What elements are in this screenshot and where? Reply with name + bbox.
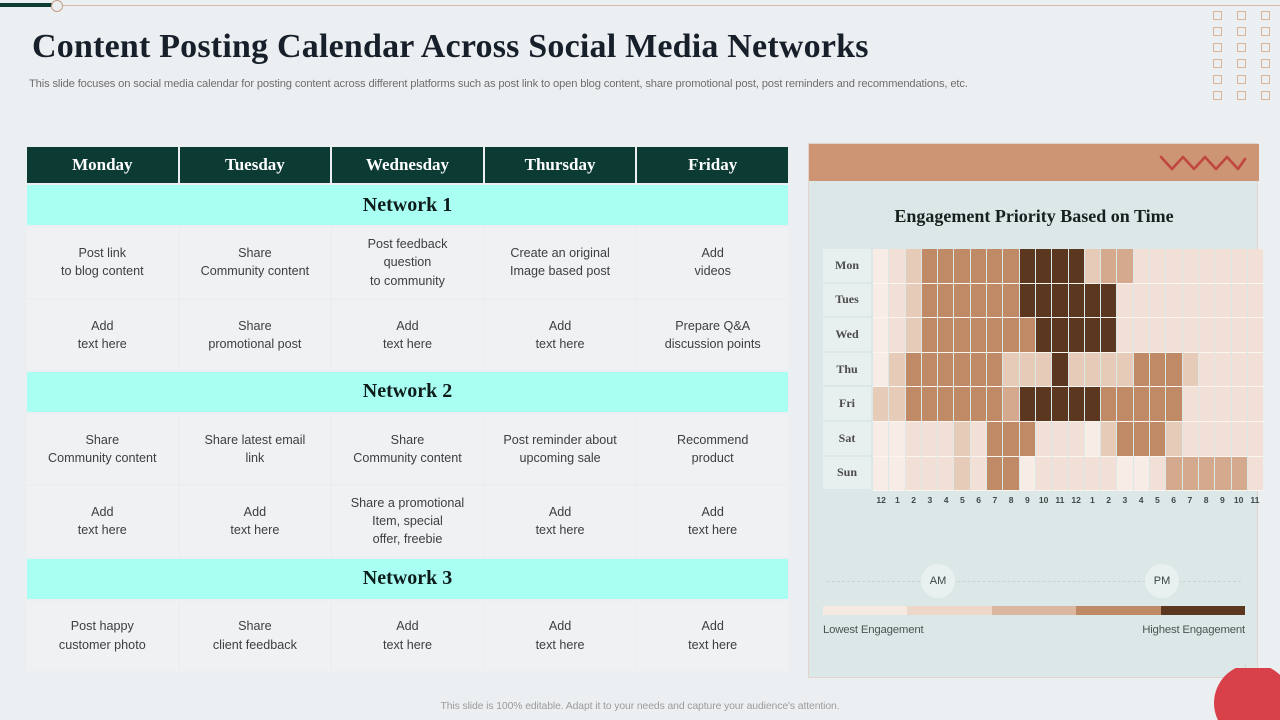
heatmap-cell[interactable] xyxy=(1215,387,1230,422)
heatmap-cell[interactable] xyxy=(1003,353,1018,388)
calendar-cell[interactable]: Sharepromotional post xyxy=(180,300,331,370)
heatmap-cell[interactable] xyxy=(1117,284,1132,319)
heatmap-cell[interactable] xyxy=(1052,249,1067,284)
heatmap-row-label: Tues xyxy=(823,284,871,319)
heatmap-cell[interactable] xyxy=(1199,249,1214,284)
heatmap-cell[interactable] xyxy=(1101,387,1116,422)
heatmap-cell[interactable] xyxy=(1150,457,1165,492)
heatmap-hour-label: 8 xyxy=(1198,495,1214,505)
heatmap-row-label: Thu xyxy=(823,353,871,388)
legend-swatch xyxy=(992,606,1076,615)
calendar-cell[interactable]: Addtext here xyxy=(485,300,636,370)
calendar-cell[interactable]: Recommendproduct xyxy=(637,414,788,484)
heatmap-cell[interactable] xyxy=(1036,387,1051,422)
calendar-cell[interactable]: Create an originalImage based post xyxy=(485,227,636,298)
panel-header-band xyxy=(809,144,1259,181)
heatmap-cell[interactable] xyxy=(1232,318,1247,353)
heatmap-cell[interactable] xyxy=(873,457,888,492)
calendar-cell[interactable]: Post feedbackquestionto community xyxy=(332,227,483,298)
heatmap-cell[interactable] xyxy=(971,353,986,388)
decorative-square-icon xyxy=(1261,11,1270,20)
calendar-cell[interactable]: Addtext here xyxy=(27,300,178,370)
heatmap-cell[interactable] xyxy=(1215,457,1230,492)
decorative-square-icon xyxy=(1213,91,1222,100)
pm-marker: PM xyxy=(1145,564,1179,598)
heatmap-hour-label: 9 xyxy=(1214,495,1230,505)
heatmap-cell[interactable] xyxy=(889,249,904,284)
heatmap-cell[interactable] xyxy=(1052,318,1067,353)
calendar-header-row: MondayTuesdayWednesdayThursdayFriday xyxy=(27,147,788,183)
calendar-row: Post happycustomer photoShareclient feed… xyxy=(27,601,788,671)
heatmap-hour-label: 9 xyxy=(1019,495,1035,505)
heatmap-hour-label: 10 xyxy=(1231,495,1247,505)
heatmap-cell[interactable] xyxy=(889,284,904,319)
heatmap-row: Wed xyxy=(823,318,1263,353)
heatmap-cell[interactable] xyxy=(1232,284,1247,319)
heatmap-cell[interactable] xyxy=(971,422,986,457)
heatmap-row-cells xyxy=(871,318,1263,353)
heatmap-cell[interactable] xyxy=(1020,284,1035,319)
heatmap-hour-label: 10 xyxy=(1036,495,1052,505)
heatmap-cell[interactable] xyxy=(1215,422,1230,457)
heatmap-cell[interactable] xyxy=(1052,353,1067,388)
network-section-label: Network 3 xyxy=(27,559,788,599)
heatmap-cell[interactable] xyxy=(873,249,888,284)
heatmap-cell[interactable] xyxy=(1134,353,1149,388)
heatmap-cell[interactable] xyxy=(1052,284,1067,319)
decorative-square-icon xyxy=(1237,91,1246,100)
engagement-heatmap: MonTuesWedThuFriSatSun 12123456789101112… xyxy=(823,249,1263,505)
heatmap-cell[interactable] xyxy=(938,284,953,319)
heatmap-cell[interactable] xyxy=(1215,249,1230,284)
heatmap-cell[interactable] xyxy=(1248,318,1263,353)
heatmap-hour-label: 6 xyxy=(1166,495,1182,505)
heatmap-cell[interactable] xyxy=(938,422,953,457)
heatmap-hour-label: 1 xyxy=(889,495,905,505)
heatmap-cell[interactable] xyxy=(1036,284,1051,319)
decorative-square-icon xyxy=(1213,11,1222,20)
calendar-body: Network 1Post linkto blog contentShareCo… xyxy=(27,185,788,671)
heatmap-cell[interactable] xyxy=(1052,387,1067,422)
legend-swatch xyxy=(1076,606,1160,615)
heatmap-cell[interactable] xyxy=(1248,387,1263,422)
calendar-row: ShareCommunity contentShare latest email… xyxy=(27,414,788,484)
heatmap-row-label: Fri xyxy=(823,387,871,422)
heatmap-cell[interactable] xyxy=(954,249,969,284)
heatmap-cell[interactable] xyxy=(1117,318,1132,353)
corner-decoration xyxy=(1214,668,1280,720)
heatmap-cell[interactable] xyxy=(1150,318,1165,353)
heatmap-hour-label: 3 xyxy=(1117,495,1133,505)
heatmap-cell[interactable] xyxy=(1036,457,1051,492)
heatmap-cell[interactable] xyxy=(1183,353,1198,388)
heatmap-cell[interactable] xyxy=(906,284,921,319)
heatmap-cell[interactable] xyxy=(1101,249,1116,284)
heatmap-cell[interactable] xyxy=(906,318,921,353)
calendar-cell[interactable]: ShareCommunity content xyxy=(332,414,483,484)
heatmap-cell[interactable] xyxy=(971,249,986,284)
calendar-cell[interactable]: ShareCommunity content xyxy=(27,414,178,484)
heatmap-cell[interactable] xyxy=(1020,318,1035,353)
heatmap-row-cells xyxy=(871,457,1263,492)
engagement-legend: Lowest Engagement Highest Engagement xyxy=(823,606,1245,636)
heatmap-cell[interactable] xyxy=(922,353,937,388)
heatmap-cell[interactable] xyxy=(1052,422,1067,457)
calendar-cell[interactable]: Addtext here xyxy=(27,486,178,557)
legend-color-bar xyxy=(823,606,1245,615)
heatmap-cell[interactable] xyxy=(1134,422,1149,457)
heatmap-cell[interactable] xyxy=(1101,284,1116,319)
calendar-cell[interactable]: Shareclient feedback xyxy=(180,601,331,671)
heatmap-cell[interactable] xyxy=(1183,457,1198,492)
calendar-cell[interactable]: Addtext here xyxy=(637,486,788,557)
heatmap-cell[interactable] xyxy=(938,318,953,353)
heatmap-hour-label: 2 xyxy=(906,495,922,505)
network-section-label: Network 1 xyxy=(27,185,788,225)
page-subtitle: This slide focuses on social media calen… xyxy=(29,78,968,90)
heatmap-cell[interactable] xyxy=(1085,353,1100,388)
heatmap-cell[interactable] xyxy=(1199,457,1214,492)
decorative-square-icon xyxy=(1213,43,1222,52)
decorative-square-icon xyxy=(1237,27,1246,36)
heatmap-cell[interactable] xyxy=(1134,457,1149,492)
heatmap-hour-label: 2 xyxy=(1101,495,1117,505)
top-rule-dot-icon xyxy=(51,0,63,12)
heatmap-cell[interactable] xyxy=(1101,353,1116,388)
legend-labels: Lowest Engagement Highest Engagement xyxy=(823,624,1245,636)
am-marker: AM xyxy=(921,564,955,598)
legend-swatch xyxy=(823,606,907,615)
calendar-cell[interactable]: Share latest emaillink xyxy=(180,414,331,484)
calendar-cell[interactable]: Addtext here xyxy=(332,300,483,370)
page-title: Content Posting Calendar Across Social M… xyxy=(32,28,869,66)
heatmap-hour-label: 8 xyxy=(1003,495,1019,505)
heatmap-cell[interactable] xyxy=(1117,387,1132,422)
calendar-cell[interactable]: Addtext here xyxy=(332,601,483,671)
zigzag-icon xyxy=(1159,153,1247,173)
heatmap-hour-label: 11 xyxy=(1052,495,1068,505)
calendar-cell[interactable]: Post reminder aboutupcoming sale xyxy=(485,414,636,484)
heatmap-row-cells xyxy=(871,387,1263,422)
decorative-square-icon xyxy=(1213,27,1222,36)
heatmap-cell[interactable] xyxy=(1069,353,1084,388)
heatmap-cell[interactable] xyxy=(987,387,1002,422)
content-calendar-table: MondayTuesdayWednesdayThursdayFriday Net… xyxy=(25,145,790,673)
heatmap-row-cells xyxy=(871,249,1263,284)
heatmap-cell[interactable] xyxy=(922,422,937,457)
heatmap-cell[interactable] xyxy=(938,387,953,422)
calendar-cell[interactable]: Post linkto blog content xyxy=(27,227,178,298)
heatmap-cell[interactable] xyxy=(1020,249,1035,284)
heatmap-cell[interactable] xyxy=(1020,422,1035,457)
heatmap-cell[interactable] xyxy=(954,422,969,457)
heatmap-cell[interactable] xyxy=(1199,284,1214,319)
heatmap-cell[interactable] xyxy=(1069,422,1084,457)
heatmap-hour-label: 11 xyxy=(1247,495,1263,505)
network-section-row: Network 2 xyxy=(27,372,788,412)
legend-swatch xyxy=(1161,606,1245,615)
heatmap-cell[interactable] xyxy=(906,422,921,457)
heatmap-row-cells xyxy=(871,284,1263,319)
engagement-panel: Engagement Priority Based on Time MonTue… xyxy=(808,143,1258,678)
heatmap-cell[interactable] xyxy=(1183,284,1198,319)
heatmap-cell[interactable] xyxy=(954,457,969,492)
heatmap-cell[interactable] xyxy=(1134,318,1149,353)
heatmap-hour-axis: 121234567891011121234567891011 xyxy=(873,495,1263,505)
heatmap-cell[interactable] xyxy=(1101,457,1116,492)
network-section-row: Network 1 xyxy=(27,185,788,225)
corner-circle-shape xyxy=(1214,668,1280,720)
heatmap-cell[interactable] xyxy=(1069,387,1084,422)
heatmap-cell[interactable] xyxy=(1085,422,1100,457)
decorative-square-icon xyxy=(1237,11,1246,20)
heatmap-cell[interactable] xyxy=(1232,249,1247,284)
heatmap-row-label: Sat xyxy=(823,422,871,457)
heatmap-cell[interactable] xyxy=(889,422,904,457)
heatmap-hour-label: 6 xyxy=(971,495,987,505)
heatmap-row: Fri xyxy=(823,387,1263,422)
heatmap-cell[interactable] xyxy=(1183,422,1198,457)
heatmap-cell[interactable] xyxy=(987,318,1002,353)
heatmap-row-label: Sun xyxy=(823,457,871,492)
heatmap-cell[interactable] xyxy=(1199,422,1214,457)
heatmap-cell[interactable] xyxy=(1166,457,1181,492)
heatmap-cell[interactable] xyxy=(987,249,1002,284)
heatmap-cell[interactable] xyxy=(1134,284,1149,319)
heatmap-cell[interactable] xyxy=(1069,249,1084,284)
heatmap-cell[interactable] xyxy=(954,353,969,388)
calendar-cell[interactable]: Addtext here xyxy=(637,601,788,671)
heatmap-cell[interactable] xyxy=(873,284,888,319)
heatmap-row-cells xyxy=(871,422,1263,457)
calendar-row: Addtext hereAddtext hereShare a promotio… xyxy=(27,486,788,557)
heatmap-cell[interactable] xyxy=(1199,353,1214,388)
heatmap-cell[interactable] xyxy=(1215,353,1230,388)
network-section-row: Network 3 xyxy=(27,559,788,599)
heatmap-cell[interactable] xyxy=(873,387,888,422)
heatmap-cell[interactable] xyxy=(987,457,1002,492)
heatmap-cell[interactable] xyxy=(922,318,937,353)
top-rule-accent xyxy=(0,3,52,7)
calendar-column-header: Friday xyxy=(637,147,788,183)
heatmap-cell[interactable] xyxy=(906,353,921,388)
heatmap-cell[interactable] xyxy=(971,318,986,353)
heatmap-cell[interactable] xyxy=(987,353,1002,388)
calendar-column-header: Tuesday xyxy=(180,147,331,183)
heatmap-cell[interactable] xyxy=(906,457,921,492)
decorative-square-icon xyxy=(1261,27,1270,36)
calendar-cell[interactable]: Addtext here xyxy=(485,486,636,557)
heatmap-cell[interactable] xyxy=(889,353,904,388)
heatmap-row-label: Wed xyxy=(823,318,871,353)
heatmap-cell[interactable] xyxy=(1248,284,1263,319)
heatmap-cell[interactable] xyxy=(1166,284,1181,319)
heatmap-cell[interactable] xyxy=(1166,318,1181,353)
heatmap-cell[interactable] xyxy=(1248,353,1263,388)
heatmap-cell[interactable] xyxy=(1150,353,1165,388)
heatmap-cell[interactable] xyxy=(971,387,986,422)
heatmap-cell[interactable] xyxy=(938,249,953,284)
heatmap-cell[interactable] xyxy=(1134,249,1149,284)
heatmap-cell[interactable] xyxy=(987,422,1002,457)
legend-low-label: Lowest Engagement xyxy=(823,624,923,636)
calendar-column-header: Thursday xyxy=(485,147,636,183)
calendar-column-header: Monday xyxy=(27,147,178,183)
legend-swatch xyxy=(907,606,991,615)
heatmap-cell[interactable] xyxy=(1003,387,1018,422)
decorative-square-icon xyxy=(1237,43,1246,52)
decorative-square-icon xyxy=(1213,75,1222,84)
heatmap-cell[interactable] xyxy=(1117,353,1132,388)
heatmap-cell[interactable] xyxy=(1166,353,1181,388)
heatmap-cell[interactable] xyxy=(987,284,1002,319)
heatmap-cell[interactable] xyxy=(1020,457,1035,492)
heatmap-cell[interactable] xyxy=(938,353,953,388)
heatmap-cell[interactable] xyxy=(971,284,986,319)
calendar-row: Post linkto blog contentShareCommunity c… xyxy=(27,227,788,298)
decorative-square-icon xyxy=(1237,75,1246,84)
heatmap-cell[interactable] xyxy=(1003,284,1018,319)
heatmap-cell[interactable] xyxy=(971,457,986,492)
heatmap-cell[interactable] xyxy=(1003,457,1018,492)
heatmap-cell[interactable] xyxy=(1069,457,1084,492)
heatmap-cell[interactable] xyxy=(922,457,937,492)
decorative-square-icon xyxy=(1261,75,1270,84)
heatmap-cell[interactable] xyxy=(1085,249,1100,284)
heatmap-cell[interactable] xyxy=(954,387,969,422)
heatmap-cell[interactable] xyxy=(889,387,904,422)
heatmap-cell[interactable] xyxy=(1215,284,1230,319)
heatmap-cell[interactable] xyxy=(1117,457,1132,492)
heatmap-cell[interactable] xyxy=(1020,353,1035,388)
heatmap-hour-label: 12 xyxy=(873,495,889,505)
heatmap-cell[interactable] xyxy=(1183,249,1198,284)
heatmap-row: Mon xyxy=(823,249,1263,284)
heatmap-cell[interactable] xyxy=(1166,422,1181,457)
heatmap-cell[interactable] xyxy=(1248,422,1263,457)
heatmap-cell[interactable] xyxy=(1020,387,1035,422)
heatmap-cell[interactable] xyxy=(1150,249,1165,284)
calendar-cell[interactable]: Addvideos xyxy=(637,227,788,298)
heatmap-cell[interactable] xyxy=(1215,318,1230,353)
calendar-cell[interactable]: Share a promotionalItem, specialoffer, f… xyxy=(332,486,483,557)
heatmap-row-cells xyxy=(871,353,1263,388)
heatmap-cell[interactable] xyxy=(1101,318,1116,353)
heatmap-cell[interactable] xyxy=(1117,422,1132,457)
heatmap-cell[interactable] xyxy=(1232,387,1247,422)
decorative-square-icon xyxy=(1261,91,1270,100)
heatmap-cell[interactable] xyxy=(1036,249,1051,284)
heatmap-cell[interactable] xyxy=(922,284,937,319)
heatmap-cell[interactable] xyxy=(1085,457,1100,492)
heatmap-cell[interactable] xyxy=(1069,284,1084,319)
calendar-cell[interactable]: Post happycustomer photo xyxy=(27,601,178,671)
heatmap-row: Sun xyxy=(823,457,1263,492)
heatmap-cell[interactable] xyxy=(954,318,969,353)
decorative-square-icon xyxy=(1261,59,1270,68)
calendar-column-header: Wednesday xyxy=(332,147,483,183)
heatmap-hour-label: 4 xyxy=(938,495,954,505)
heatmap-cell[interactable] xyxy=(1232,353,1247,388)
heatmap-hour-label: 12 xyxy=(1068,495,1084,505)
heatmap-cell[interactable] xyxy=(873,318,888,353)
heatmap-cell[interactable] xyxy=(1232,457,1247,492)
heatmap-cell[interactable] xyxy=(889,457,904,492)
heatmap-cell[interactable] xyxy=(1248,457,1263,492)
heatmap-cell[interactable] xyxy=(1150,422,1165,457)
heatmap-cell[interactable] xyxy=(922,387,937,422)
heatmap-cell[interactable] xyxy=(1150,284,1165,319)
heatmap-cell[interactable] xyxy=(873,422,888,457)
heatmap-hour-label: 3 xyxy=(922,495,938,505)
heatmap-cell[interactable] xyxy=(1085,387,1100,422)
heatmap-cell[interactable] xyxy=(1232,422,1247,457)
heatmap-row: Tues xyxy=(823,284,1263,319)
heatmap-cell[interactable] xyxy=(1003,318,1018,353)
heatmap-cell[interactable] xyxy=(906,387,921,422)
slide-root: Content Posting Calendar Across Social M… xyxy=(0,0,1280,720)
heatmap-cell[interactable] xyxy=(1085,284,1100,319)
decorative-square-icon xyxy=(1213,59,1222,68)
heatmap-cell[interactable] xyxy=(1052,457,1067,492)
decorative-square-icon xyxy=(1261,43,1270,52)
heatmap-cell[interactable] xyxy=(922,249,937,284)
heatmap-cell[interactable] xyxy=(889,318,904,353)
heatmap-hour-label: 7 xyxy=(987,495,1003,505)
heatmap-hour-label: 7 xyxy=(1182,495,1198,505)
heatmap-cell[interactable] xyxy=(1199,318,1214,353)
calendar-cell[interactable]: Addtext here xyxy=(180,486,331,557)
heatmap-cell[interactable] xyxy=(1003,249,1018,284)
network-section-label: Network 2 xyxy=(27,372,788,412)
heatmap-cell[interactable] xyxy=(873,353,888,388)
heatmap-row-label: Mon xyxy=(823,249,871,284)
heatmap-cell[interactable] xyxy=(1166,387,1181,422)
heatmap-cell[interactable] xyxy=(1248,249,1263,284)
legend-high-label: Highest Engagement xyxy=(1142,624,1245,636)
heatmap-hour-label: 4 xyxy=(1133,495,1149,505)
top-rule-line xyxy=(0,5,1280,6)
heatmap-hour-label: 5 xyxy=(954,495,970,505)
heatmap-cell[interactable] xyxy=(1036,353,1051,388)
heatmap-cell[interactable] xyxy=(1183,387,1198,422)
heatmap-cell[interactable] xyxy=(1134,387,1149,422)
heatmap-cell[interactable] xyxy=(1199,387,1214,422)
heatmap-cell[interactable] xyxy=(1069,318,1084,353)
heatmap-cell[interactable] xyxy=(1150,387,1165,422)
calendar-cell[interactable]: Prepare Q&Adiscussion points xyxy=(637,300,788,370)
heatmap-cell[interactable] xyxy=(1117,249,1132,284)
ampm-axis: AM PM xyxy=(827,561,1241,601)
heatmap-cell[interactable] xyxy=(1166,249,1181,284)
heatmap-cell[interactable] xyxy=(1183,318,1198,353)
heatmap-cell[interactable] xyxy=(938,457,953,492)
heatmap-cell[interactable] xyxy=(1101,422,1116,457)
heatmap-cell[interactable] xyxy=(954,284,969,319)
heatmap-cell[interactable] xyxy=(1003,422,1018,457)
footer-note: This slide is 100% editable. Adapt it to… xyxy=(0,701,1280,712)
calendar-cell[interactable]: ShareCommunity content xyxy=(180,227,331,298)
panel-title: Engagement Priority Based on Time xyxy=(809,206,1259,227)
calendar-row: Addtext hereSharepromotional postAddtext… xyxy=(27,300,788,370)
heatmap-cell[interactable] xyxy=(1036,422,1051,457)
calendar-cell[interactable]: Addtext here xyxy=(485,601,636,671)
heatmap-cell[interactable] xyxy=(1036,318,1051,353)
heatmap-cell[interactable] xyxy=(1085,318,1100,353)
decorative-square-grid xyxy=(1205,8,1277,104)
heatmap-cell[interactable] xyxy=(906,249,921,284)
heatmap-row: Sat xyxy=(823,422,1263,457)
